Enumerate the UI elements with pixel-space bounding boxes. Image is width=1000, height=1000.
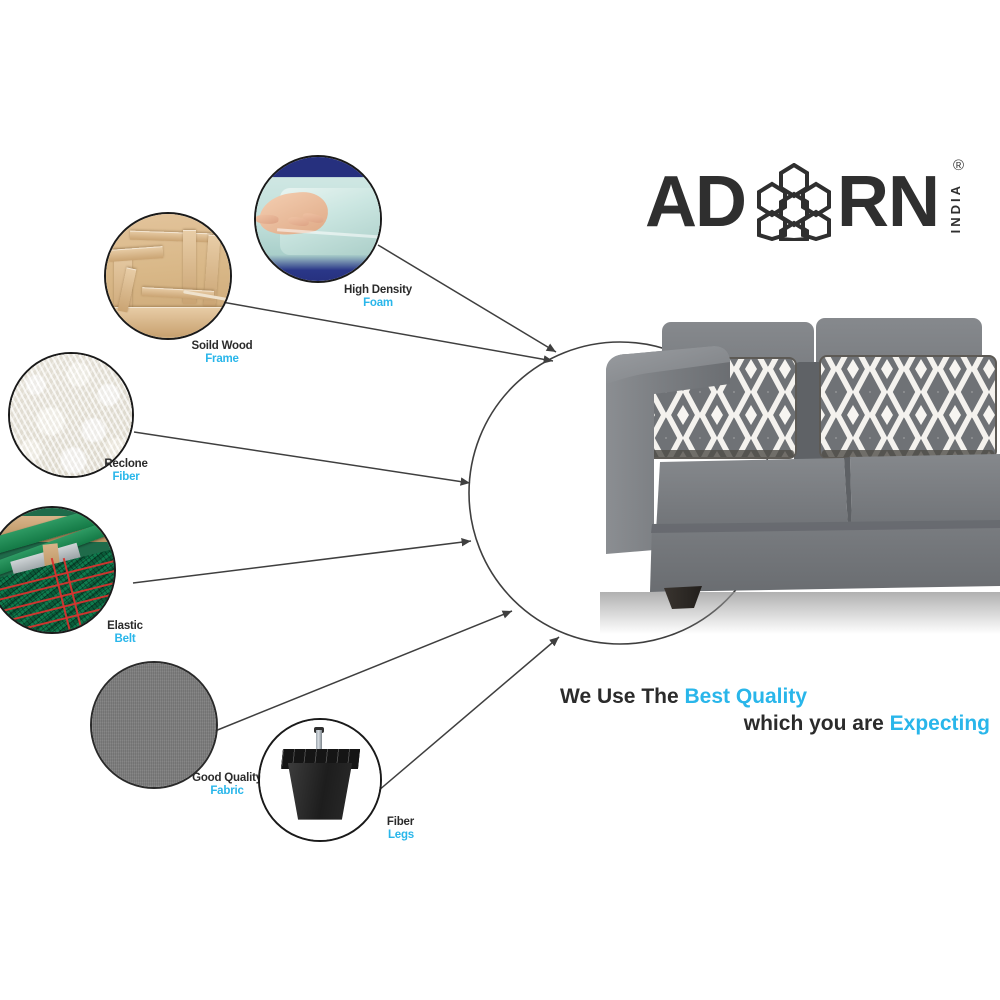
feature-circle-solid-wood-frame	[104, 212, 232, 340]
logo-text-ad: AD	[645, 161, 745, 243]
tagline-line1-plain: We Use The	[560, 685, 684, 708]
label-line1: Reclone	[78, 458, 174, 471]
label-line1: Elastic	[84, 620, 166, 633]
grey-fabric-swatch-photo	[90, 661, 218, 789]
logo-text-rn: RN	[837, 161, 939, 243]
grey-fabric-sofa-photo	[598, 300, 1000, 610]
label-line2: Frame	[170, 353, 274, 366]
label-line1: Soild Wood	[170, 340, 274, 353]
arrow-good-quality-fabric	[215, 611, 512, 731]
infographic-canvas: Soild Wood Frame High Density Foam Reclo…	[0, 0, 1000, 1000]
feature-circle-good-quality-fabric	[90, 661, 218, 789]
wooden-sofa-frame-photo	[104, 212, 232, 340]
feature-circle-elastic-belt	[0, 506, 116, 634]
label-line1: High Density	[324, 284, 432, 297]
feature-circle-high-density-foam	[254, 155, 382, 283]
label-reclone-fiber: Reclone Fiber	[78, 458, 174, 484]
logo-text-india: INDIA	[948, 183, 963, 233]
label-line2: Foam	[324, 297, 432, 310]
tagline-line2: which you are Expecting	[560, 711, 990, 738]
hexagon-honeycomb-icon	[751, 163, 837, 241]
label-line1: Fiber	[352, 816, 414, 829]
tagline-line2-highlight: Expecting	[890, 712, 990, 735]
tagline-line1-highlight: Best Quality	[684, 685, 807, 708]
label-line2: Belt	[84, 633, 166, 646]
seat-cushion-left	[656, 458, 848, 532]
green-elastic-webbing-photo	[0, 506, 116, 634]
arrow-reclone-fiber	[134, 432, 470, 483]
brand-logo: AD RN INDIA ®	[645, 155, 965, 250]
registered-trademark-icon: ®	[953, 157, 964, 174]
seat-cushion-right	[850, 454, 1000, 528]
label-line2: Legs	[352, 829, 414, 842]
tagline-line1: We Use The Best Quality	[560, 684, 990, 711]
sofa-leg	[664, 586, 702, 609]
label-line2: Fiber	[78, 471, 174, 484]
label-solid-wood-frame: Soild Wood Frame	[170, 340, 274, 366]
arrow-fiber-legs	[378, 637, 559, 791]
throw-pillow-right	[820, 356, 996, 458]
label-high-density-foam: High Density Foam	[324, 284, 432, 310]
hand-pressing-foam-photo	[254, 155, 382, 283]
tagline: We Use The Best Quality which you are Ex…	[560, 684, 990, 738]
label-fiber-legs: Fiber Legs	[352, 816, 414, 842]
label-elastic-belt: Elastic Belt	[84, 620, 166, 646]
tagline-line2-plain: which you are	[744, 712, 890, 735]
arrow-elastic-belt	[133, 541, 471, 583]
